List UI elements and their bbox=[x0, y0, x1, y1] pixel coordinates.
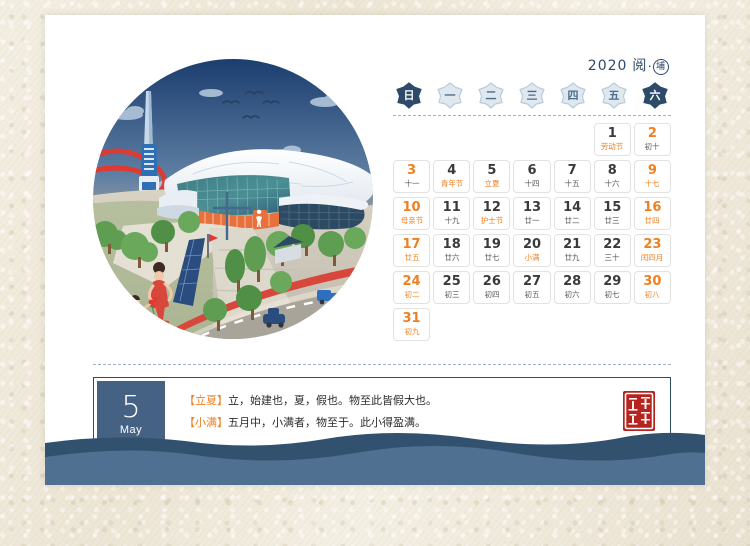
date-cell-20[interactable]: 20小满 bbox=[513, 234, 550, 267]
illustration-container bbox=[93, 58, 373, 340]
date-number: 21 bbox=[563, 238, 581, 252]
date-cell-28[interactable]: 28初六 bbox=[554, 271, 591, 304]
date-sublabel: 十四 bbox=[524, 178, 539, 188]
calendar-section: 2020 阅·埔 日一二三四五六 1劳动节2初十3十一4青年节5立夏6十四7十五… bbox=[393, 55, 671, 341]
date-sublabel: 初八 bbox=[645, 289, 660, 299]
weekday-label: 一 bbox=[445, 87, 456, 103]
date-cell-24[interactable]: 24初二 bbox=[393, 271, 430, 304]
date-sublabel: 廿一 bbox=[524, 215, 539, 225]
date-sublabel: 青年节 bbox=[440, 178, 463, 188]
date-number: 30 bbox=[643, 275, 661, 289]
date-number: 16 bbox=[643, 201, 661, 215]
date-number: 14 bbox=[563, 201, 581, 215]
calendar-card: 2020 阅·埔 日一二三四五六 1劳动节2初十3十一4青年节5立夏6十四7十五… bbox=[45, 15, 705, 485]
date-number: 11 bbox=[443, 201, 461, 215]
date-number: 27 bbox=[523, 275, 541, 289]
date-sublabel: 十五 bbox=[565, 178, 580, 188]
date-cell-12[interactable]: 12护士节 bbox=[473, 197, 510, 230]
brand-char: 阅 bbox=[632, 57, 647, 73]
date-cell-30[interactable]: 30初八 bbox=[634, 271, 671, 304]
date-sublabel: 十七 bbox=[645, 178, 660, 188]
empty-cell bbox=[393, 123, 430, 156]
date-sublabel: 廿七 bbox=[484, 252, 499, 262]
date-sublabel: 护士节 bbox=[481, 215, 504, 225]
header-dashed-divider bbox=[393, 115, 671, 116]
weekday-label: 六 bbox=[650, 87, 661, 103]
date-number: 25 bbox=[443, 275, 461, 289]
empty-cell bbox=[554, 123, 591, 156]
date-number: 12 bbox=[483, 201, 501, 215]
calendar-title: 2020 阅·埔 bbox=[393, 55, 671, 75]
date-grid: 1劳动节2初十3十一4青年节5立夏6十四7十五8十六9十七10母亲节11十九12… bbox=[393, 123, 671, 341]
date-cell-3[interactable]: 3十一 bbox=[393, 160, 430, 193]
date-cell-25[interactable]: 25初三 bbox=[433, 271, 470, 304]
date-sublabel: 初九 bbox=[404, 326, 419, 336]
date-cell-8[interactable]: 8十六 bbox=[594, 160, 631, 193]
weekday-label: 二 bbox=[486, 87, 497, 103]
empty-cell bbox=[433, 123, 470, 156]
date-sublabel: 立夏 bbox=[484, 178, 499, 188]
date-sublabel: 廿九 bbox=[565, 252, 580, 262]
date-cell-6[interactable]: 6十四 bbox=[513, 160, 550, 193]
date-sublabel: 母亲节 bbox=[400, 215, 423, 225]
date-number: 7 bbox=[568, 164, 577, 178]
date-number: 31 bbox=[403, 312, 421, 326]
date-sublabel: 劳动节 bbox=[601, 141, 624, 151]
date-number: 3 bbox=[407, 164, 416, 178]
date-cell-27[interactable]: 27初五 bbox=[513, 271, 550, 304]
date-cell-9[interactable]: 9十七 bbox=[634, 160, 671, 193]
empty-cell bbox=[473, 123, 510, 156]
date-sublabel: 初十 bbox=[645, 141, 660, 151]
date-cell-31[interactable]: 31初九 bbox=[393, 308, 430, 341]
date-cell-22[interactable]: 22三十 bbox=[594, 234, 631, 267]
empty-cell bbox=[513, 123, 550, 156]
date-number: 18 bbox=[443, 238, 461, 252]
date-cell-15[interactable]: 15廿三 bbox=[594, 197, 631, 230]
date-cell-4[interactable]: 4青年节 bbox=[433, 160, 470, 193]
weekday-label: 三 bbox=[527, 87, 538, 103]
illustration-circle bbox=[93, 58, 373, 340]
term-line-0: 【立夏】立，始建也，夏，假也。物至此皆假大也。 bbox=[184, 390, 670, 412]
date-cell-13[interactable]: 13廿一 bbox=[513, 197, 550, 230]
weekday-label: 日 bbox=[404, 87, 415, 103]
weekday-5: 五 bbox=[600, 81, 628, 109]
date-number: 1 bbox=[608, 127, 617, 141]
date-number: 20 bbox=[523, 238, 541, 252]
date-sublabel: 三十 bbox=[605, 252, 620, 262]
date-number: 6 bbox=[527, 164, 536, 178]
weekday-header-row: 日一二三四五六 bbox=[393, 81, 671, 109]
date-sublabel: 十六 bbox=[605, 178, 620, 188]
date-number: 22 bbox=[603, 238, 621, 252]
weekday-4: 四 bbox=[559, 81, 587, 109]
date-sublabel: 十一 bbox=[404, 178, 419, 188]
weekday-0: 日 bbox=[395, 81, 423, 109]
weekday-2: 二 bbox=[477, 81, 505, 109]
date-sublabel: 闰四月 bbox=[641, 252, 664, 262]
date-cell-17[interactable]: 17廿五 bbox=[393, 234, 430, 267]
date-number: 19 bbox=[483, 238, 501, 252]
date-cell-2[interactable]: 2初十 bbox=[634, 123, 671, 156]
date-sublabel: 廿三 bbox=[605, 215, 620, 225]
date-cell-7[interactable]: 7十五 bbox=[554, 160, 591, 193]
date-sublabel: 初五 bbox=[524, 289, 539, 299]
term-tag: 【立夏】 bbox=[184, 395, 228, 407]
weekday-label: 五 bbox=[609, 87, 620, 103]
date-sublabel: 廿六 bbox=[444, 252, 459, 262]
panel-dashed-divider bbox=[93, 364, 671, 365]
weekday-1: 一 bbox=[436, 81, 464, 109]
weekday-label: 四 bbox=[568, 87, 579, 103]
date-number: 26 bbox=[483, 275, 501, 289]
calendar-year: 2020 bbox=[588, 58, 628, 74]
date-cell-16[interactable]: 16廿四 bbox=[634, 197, 671, 230]
brand-badge-char: 埔 bbox=[653, 59, 669, 75]
date-number: 23 bbox=[643, 238, 661, 252]
date-cell-21[interactable]: 21廿九 bbox=[554, 234, 591, 267]
date-cell-19[interactable]: 19廿七 bbox=[473, 234, 510, 267]
date-sublabel: 十九 bbox=[444, 215, 459, 225]
date-sublabel: 小满 bbox=[524, 252, 539, 262]
huangpu-landmark-illustration bbox=[93, 58, 373, 340]
date-number: 29 bbox=[603, 275, 621, 289]
date-cell-5[interactable]: 5立夏 bbox=[473, 160, 510, 193]
date-number: 9 bbox=[648, 164, 657, 178]
weekday-6: 六 bbox=[641, 81, 669, 109]
date-sublabel: 初七 bbox=[605, 289, 620, 299]
date-sublabel: 初三 bbox=[444, 289, 459, 299]
date-number: 4 bbox=[447, 164, 456, 178]
date-cell-1[interactable]: 1劳动节 bbox=[594, 123, 631, 156]
date-sublabel: 初四 bbox=[484, 289, 499, 299]
month-number: 5 bbox=[121, 393, 140, 423]
date-sublabel: 廿五 bbox=[404, 252, 419, 262]
date-cell-18[interactable]: 18廿六 bbox=[433, 234, 470, 267]
date-number: 17 bbox=[403, 238, 421, 252]
date-cell-23[interactable]: 23闰四月 bbox=[634, 234, 671, 267]
date-sublabel: 初六 bbox=[565, 289, 580, 299]
date-cell-29[interactable]: 29初七 bbox=[594, 271, 631, 304]
date-number: 15 bbox=[603, 201, 621, 215]
date-cell-10[interactable]: 10母亲节 bbox=[393, 197, 430, 230]
weekday-3: 三 bbox=[518, 81, 546, 109]
date-number: 24 bbox=[403, 275, 421, 289]
date-number: 5 bbox=[487, 164, 496, 178]
date-number: 8 bbox=[608, 164, 617, 178]
date-number: 28 bbox=[563, 275, 581, 289]
date-sublabel: 初二 bbox=[404, 289, 419, 299]
date-number: 2 bbox=[648, 127, 657, 141]
term-body: 立，始建也，夏，假也。物至此皆假大也。 bbox=[228, 395, 437, 407]
date-number: 13 bbox=[523, 201, 541, 215]
date-sublabel: 廿四 bbox=[645, 215, 660, 225]
date-cell-26[interactable]: 26初四 bbox=[473, 271, 510, 304]
date-number: 10 bbox=[403, 201, 421, 215]
date-cell-14[interactable]: 14廿二 bbox=[554, 197, 591, 230]
wave-decoration bbox=[45, 425, 705, 485]
date-sublabel: 廿二 bbox=[565, 215, 580, 225]
date-cell-11[interactable]: 11十九 bbox=[433, 197, 470, 230]
